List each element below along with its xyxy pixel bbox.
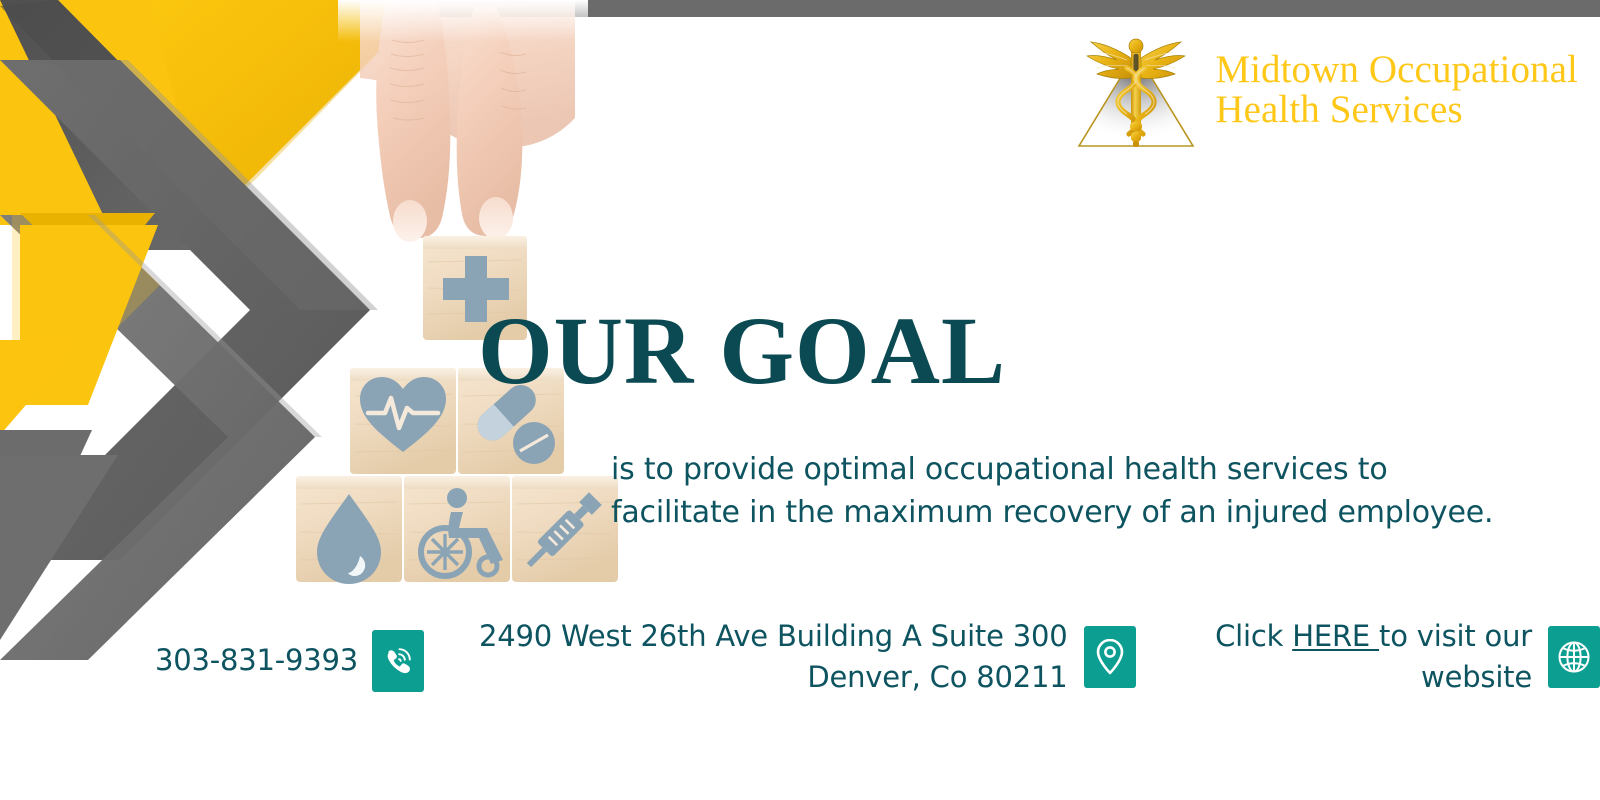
page-title: OUR GOAL <box>478 303 1006 399</box>
brand-name: Midtown Occupational Health Services <box>1215 50 1578 130</box>
address-text: 2490 West 26th Ave Building A Suite 300 … <box>479 616 1068 698</box>
contact-footer: 303-831-9393 2490 West 26th Ave Building… <box>0 614 1600 724</box>
contact-address[interactable]: 2490 West 26th Ave Building A Suite 300 … <box>479 616 1136 698</box>
mission-statement: is to provide optimal occupational healt… <box>611 448 1511 534</box>
address-line2: Denver, Co 80211 <box>479 657 1068 698</box>
brand-name-line1: Midtown Occupational <box>1215 50 1578 90</box>
poster-canvas: Midtown Occupational Health Services OUR… <box>0 0 1600 800</box>
block-heartbeat <box>350 368 456 474</box>
map-pin-icon <box>1084 626 1136 688</box>
website-prefix: Click <box>1215 619 1292 653</box>
caduceus-triangle-logo-icon <box>1067 24 1205 156</box>
address-line1: 2490 West 26th Ave Building A Suite 300 <box>479 616 1068 657</box>
block-wheelchair <box>404 476 510 582</box>
phone-number[interactable]: 303-831-9393 <box>155 640 358 681</box>
phone-ringing-icon <box>372 630 424 692</box>
brand-logo[interactable]: Midtown Occupational Health Services <box>1067 24 1578 156</box>
website-suffix: to visit our website <box>1379 619 1532 694</box>
brand-name-line2: Health Services <box>1215 90 1578 130</box>
block-water-drop <box>296 476 402 584</box>
contact-website[interactable]: Click HERE to visit our website <box>1143 616 1600 698</box>
website-text: Click HERE to visit our website <box>1143 616 1532 698</box>
block-syringe <box>512 476 618 582</box>
website-link[interactable]: HERE <box>1292 619 1379 653</box>
contact-phone[interactable]: 303-831-9393 <box>155 630 424 692</box>
globe-icon <box>1548 626 1600 688</box>
